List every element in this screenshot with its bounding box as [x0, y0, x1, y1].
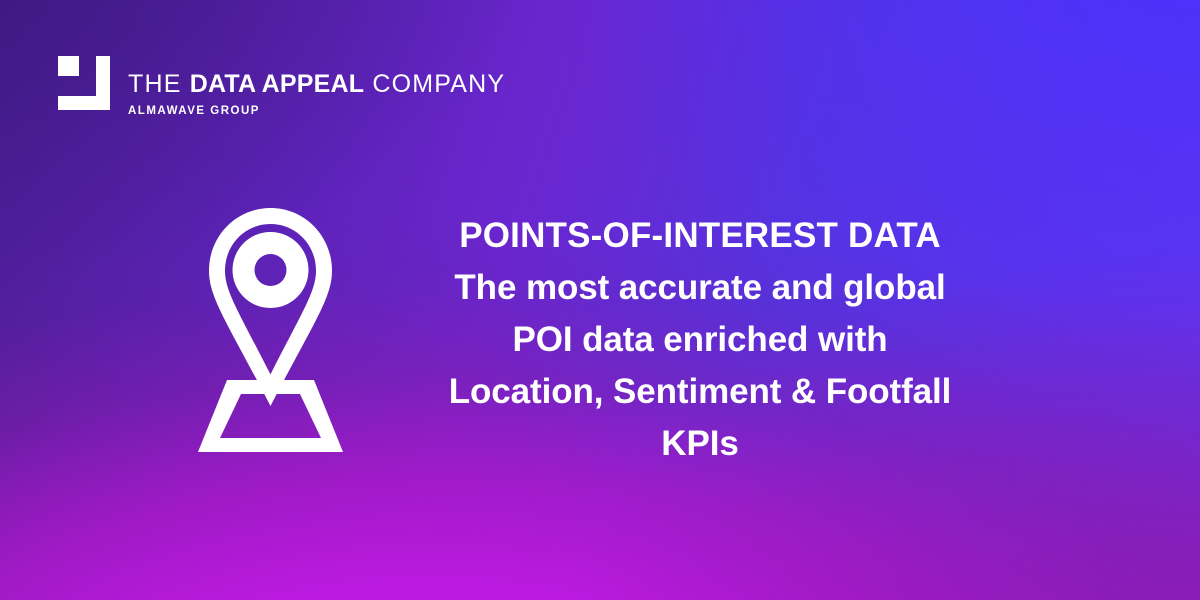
- headline-block: POINTS-OF-INTEREST DATA The most accurat…: [380, 210, 1020, 470]
- pin-inner-ring-shape: [233, 232, 309, 308]
- data-appeal-bracket-mark-icon: [58, 56, 110, 110]
- wordmark-prefix: THE: [128, 70, 190, 98]
- headline-line-5: KPIs: [380, 418, 1020, 470]
- headline-line-2: The most accurate and global: [380, 262, 1020, 314]
- headline-line-1: POINTS-OF-INTEREST DATA: [380, 210, 1020, 262]
- brand-logo-text: THE DATA APPEAL COMPANY ALMAWAVE GROUP: [128, 50, 505, 117]
- brand-logo[interactable]: THE DATA APPEAL COMPANY ALMAWAVE GROUP: [58, 50, 505, 117]
- headline-line-3: POI data enriched with: [380, 314, 1020, 366]
- promo-banner: THE DATA APPEAL COMPANY ALMAWAVE GROUP P…: [0, 0, 1200, 600]
- brand-group-line: ALMAWAVE GROUP: [128, 105, 505, 117]
- wordmark-emphasis: DATA APPEAL: [190, 70, 364, 98]
- brand-wordmark: THE DATA APPEAL COMPANY: [128, 72, 505, 97]
- headline-line-4: Location, Sentiment & Footfall: [380, 366, 1020, 418]
- wordmark-suffix: COMPANY: [364, 70, 505, 98]
- map-pin-on-map-icon: [183, 202, 358, 460]
